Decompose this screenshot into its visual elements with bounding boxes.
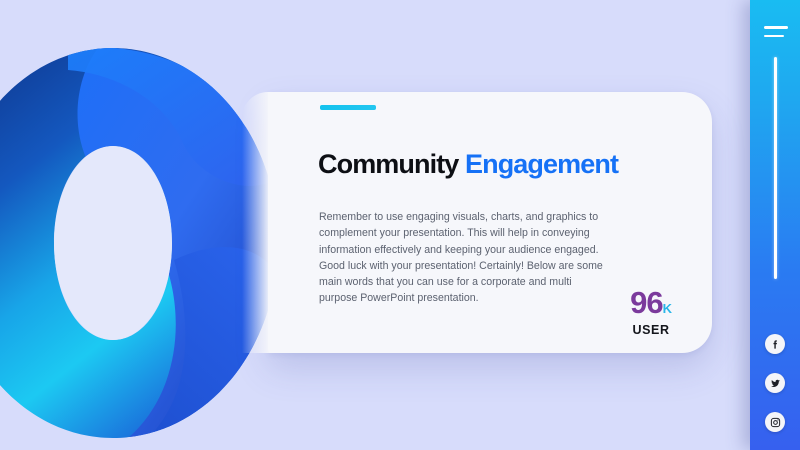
hamburger-line-2 <box>764 35 784 38</box>
accent-bar <box>320 105 376 110</box>
stat-unit: K <box>663 301 672 316</box>
title-highlight: Engagement <box>465 149 618 179</box>
stat-block: 96K USER <box>630 287 672 337</box>
hamburger-line-1 <box>764 26 788 29</box>
hamburger-icon[interactable] <box>764 26 788 37</box>
instagram-icon[interactable] <box>765 412 785 432</box>
social-links <box>750 334 800 432</box>
right-sidebar <box>750 0 800 450</box>
content-card: Community Engagement Remember to use eng… <box>268 92 712 353</box>
page-title: Community Engagement <box>318 149 618 180</box>
body-text: Remember to use engaging visuals, charts… <box>319 209 604 307</box>
vertical-divider <box>774 57 777 279</box>
twitter-icon[interactable] <box>765 373 785 393</box>
big-zero-graphic <box>0 48 278 438</box>
stat-number: 96 <box>630 287 662 318</box>
stat-value-row: 96K <box>630 287 672 318</box>
stat-label: USER <box>630 323 672 337</box>
facebook-icon[interactable] <box>765 334 785 354</box>
presentation-slide: Community Engagement Remember to use eng… <box>0 0 800 450</box>
title-main: Community <box>318 149 465 179</box>
body-paragraph: Remember to use engaging visuals, charts… <box>319 209 604 307</box>
